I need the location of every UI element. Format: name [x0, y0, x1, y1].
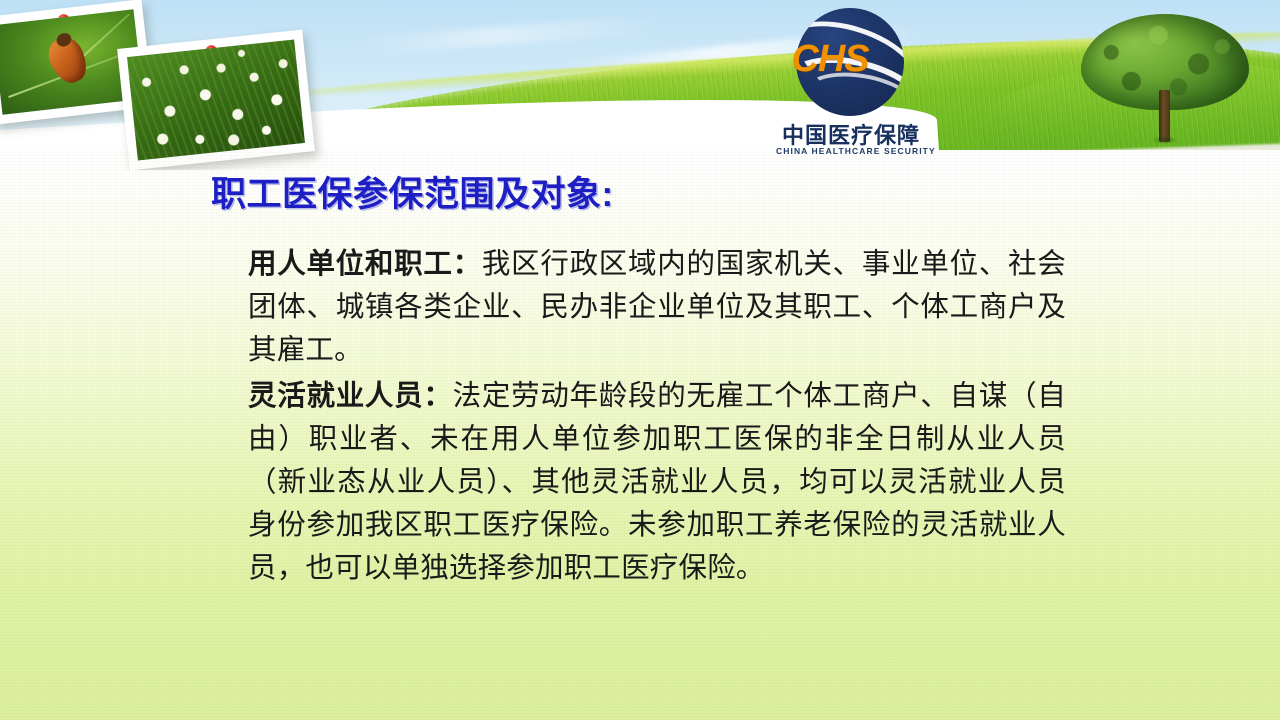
paragraph-lead: 灵活就业人员：: [248, 381, 453, 412]
chs-logo: CHS 中国医疗保障 CHINA HEALTHCARE SECURITY: [776, 8, 926, 163]
paragraph-lead: 用人单位和职工：: [248, 249, 482, 280]
header-banner: CHS 中国医疗保障 CHINA HEALTHCARE SECURITY: [0, 0, 1280, 170]
paragraph-flexible-employment: 灵活就业人员：法定劳动年龄段的无雇工个体工商户、自谋（自由）职业者、未在用人单位…: [248, 375, 1066, 590]
daisy-flowers: [127, 40, 305, 161]
tree-trunk: [1159, 90, 1170, 142]
paragraph-employer-employee: 用人单位和职工：我区行政区域内的国家机关、事业单位、社会团体、城镇各类企业、民办…: [248, 243, 1066, 372]
tree-icon: [1075, 14, 1255, 154]
slide-title: 职工医保参保范围及对象:: [211, 166, 614, 217]
logo-name-en: CHINA HEALTHCARE SECURITY: [776, 146, 926, 156]
slide-body: 用人单位和职工：我区行政区域内的国家机关、事业单位、社会团体、城镇各类企业、民办…: [248, 243, 1066, 593]
slide-root: CHS 中国医疗保障 CHINA HEALTHCARE SECURITY 职工医…: [0, 0, 1280, 720]
photo-card-daisies: [117, 30, 315, 170]
photo-image-daisies: [127, 40, 305, 161]
logo-mark-text: CHS: [776, 38, 884, 81]
